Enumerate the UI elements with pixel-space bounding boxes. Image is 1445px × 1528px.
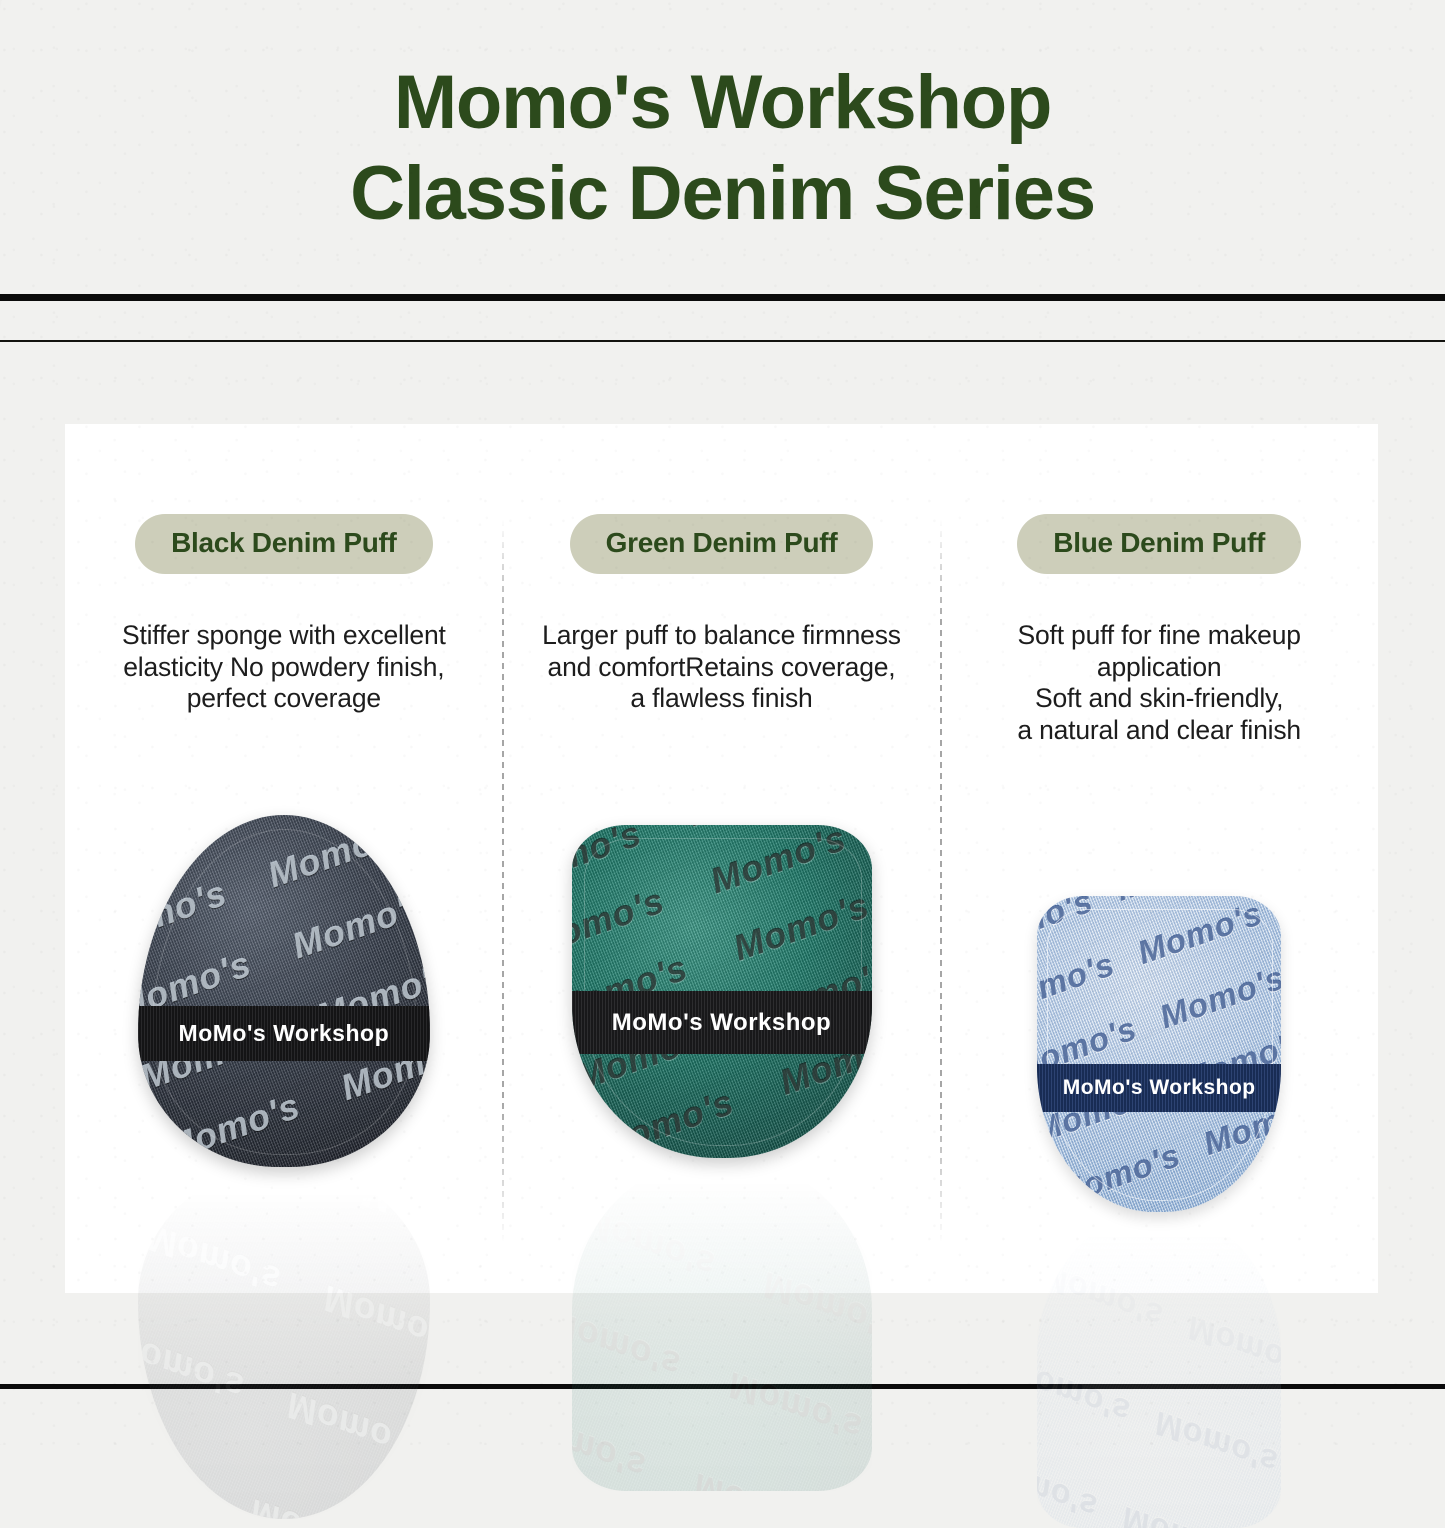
description-line: and comfortRetains coverage, xyxy=(511,652,931,684)
stitch-seam xyxy=(1047,909,1273,1202)
puff-body-black: Momo'sMomo's Momo'sMomo's Momo'sMomo's M… xyxy=(138,815,430,1167)
product-image-green-denim-puff[interactable]: Momo'sMomo's Momo'sMomo's Momo'sMomo's M… xyxy=(572,825,872,1158)
description-green-denim-puff: Larger puff to balance firmness and comf… xyxy=(511,620,931,715)
product-stage-black: Momo'sMomo's Momo'sMomo's Momo'sMomo's M… xyxy=(65,715,503,1293)
description-line: perfect coverage xyxy=(74,683,494,715)
page-title: Momo's Workshop Classic Denim Series xyxy=(350,58,1095,239)
description-line: Larger puff to balance firmness xyxy=(511,620,931,652)
product-image-black-denim-puff[interactable]: Momo'sMomo's Momo'sMomo's Momo'sMomo's M… xyxy=(138,815,430,1167)
description-line: Soft and skin-friendly, xyxy=(949,683,1369,715)
description-line: a flawless finish xyxy=(511,683,931,715)
product-stage-green: Momo'sMomo's Momo'sMomo's Momo'sMomo's M… xyxy=(503,715,941,1293)
product-stage-blue: Momo'sMomo's Momo'sMomo's Momo'sMomo's M… xyxy=(940,746,1378,1293)
title-line-1: Momo's Workshop xyxy=(350,58,1095,148)
title-line-2: Classic Denim Series xyxy=(350,149,1095,239)
product-columns: Black Denim Puff Stiffer sponge with exc… xyxy=(65,424,1378,1293)
puff-body-green: Momo'sMomo's Momo'sMomo's Momo'sMomo's M… xyxy=(572,825,872,1158)
description-line: elasticity No powdery finish, xyxy=(74,652,494,684)
puff-body-blue: Momo'sMomo's Momo'sMomo's Momo'sMomo's M… xyxy=(1037,896,1281,1212)
product-column-blue: Blue Denim Puff Soft puff for fine makeu… xyxy=(940,424,1378,1293)
product-reflection-green: Momo'sMomo's Momo'sMomo's Momo'sMomo's M… xyxy=(572,1158,872,1491)
description-black-denim-puff: Stiffer sponge with excellent elasticity… xyxy=(74,620,494,715)
column-divider-2 xyxy=(940,520,942,1265)
ribbon-label-green: MoMo's Workshop xyxy=(572,991,872,1054)
description-line: a natural and clear finish xyxy=(949,715,1369,747)
product-reflection-black: Momo'sMomo's Momo'sMomo's Momo'sMomo's M… xyxy=(138,1167,430,1519)
footer-divider xyxy=(0,1384,1445,1389)
content-card: Black Denim Puff Stiffer sponge with exc… xyxy=(65,424,1378,1293)
ribbon-label-blue: MoMo's Workshop xyxy=(1037,1064,1281,1112)
badge-blue-denim-puff: Blue Denim Puff xyxy=(1017,514,1301,574)
description-line: Stiffer sponge with excellent xyxy=(74,620,494,652)
description-blue-denim-puff: Soft puff for fine makeup application So… xyxy=(949,620,1369,746)
page-header: Momo's Workshop Classic Denim Series xyxy=(0,0,1445,297)
header-divider-thin xyxy=(0,340,1445,342)
product-column-black: Black Denim Puff Stiffer sponge with exc… xyxy=(65,424,503,1293)
description-line: Soft puff for fine makeup xyxy=(949,620,1369,652)
product-column-green: Green Denim Puff Larger puff to balance … xyxy=(503,424,941,1293)
ribbon-label-black: MoMo's Workshop xyxy=(138,1006,430,1061)
description-line: application xyxy=(949,652,1369,684)
header-divider-thick xyxy=(0,294,1445,301)
badge-green-denim-puff: Green Denim Puff xyxy=(570,514,874,574)
column-divider-1 xyxy=(502,520,504,1265)
product-image-blue-denim-puff[interactable]: Momo'sMomo's Momo'sMomo's Momo'sMomo's M… xyxy=(1037,896,1281,1212)
product-reflection-blue: Momo'sMomo's Momo'sMomo's Momo'sMomo's M… xyxy=(1037,1212,1281,1528)
badge-black-denim-puff: Black Denim Puff xyxy=(135,514,432,574)
